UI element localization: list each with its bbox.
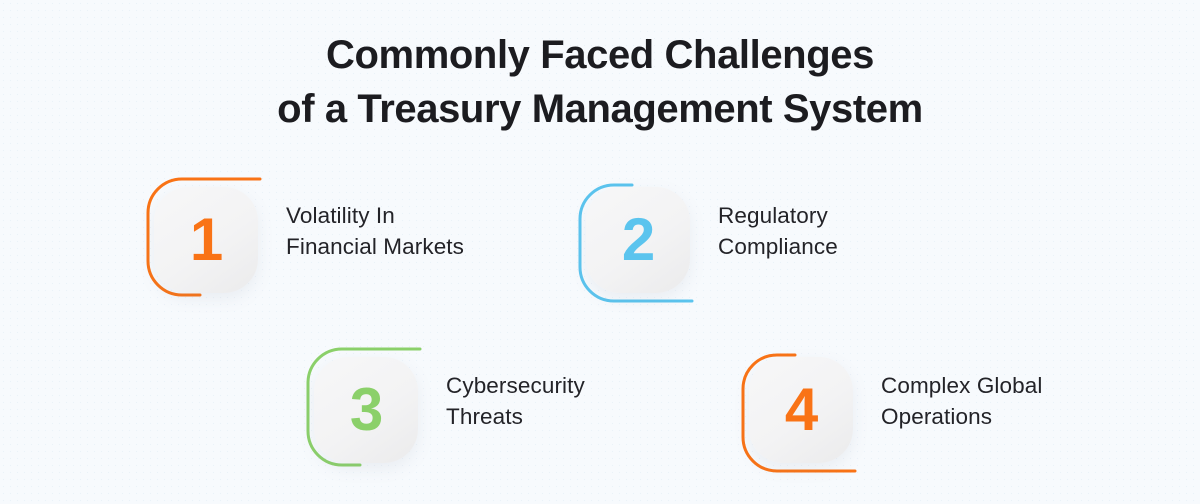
page-title: Commonly Faced Challenges of a Treasury … <box>0 28 1200 136</box>
infographic-page: Commonly Faced Challenges of a Treasury … <box>0 0 1200 504</box>
challenge-label-1-line-1: Volatility In <box>286 200 558 231</box>
challenge-card-3: 3 Cybersecurity Threats <box>300 340 720 480</box>
challenge-card-1: 1 Volatility In Financial Markets <box>140 170 560 310</box>
number-tile-1: 1 <box>154 187 258 293</box>
challenge-card-2: 2 Regulatory Compliance <box>572 170 992 310</box>
number-tile-3: 3 <box>314 357 418 463</box>
challenge-label-2: Regulatory Compliance <box>718 200 990 262</box>
number-tile-2: 2 <box>586 187 690 293</box>
challenge-number-2: 2 <box>622 210 654 270</box>
challenge-number-4: 4 <box>785 380 817 440</box>
challenge-label-4-line-2: Operations <box>881 401 1153 432</box>
challenge-label-3-line-1: Cybersecurity <box>446 370 718 401</box>
page-title-line-1: Commonly Faced Challenges <box>0 28 1200 82</box>
challenge-label-3-line-2: Threats <box>446 401 718 432</box>
challenge-label-1: Volatility In Financial Markets <box>286 200 558 262</box>
challenge-label-4: Complex Global Operations <box>881 370 1153 432</box>
challenge-label-4-line-1: Complex Global <box>881 370 1153 401</box>
challenge-card-4: 4 Complex Global Operations <box>735 340 1155 480</box>
page-title-line-2: of a Treasury Management System <box>0 82 1200 136</box>
number-tile-4: 4 <box>749 357 853 463</box>
challenge-label-1-line-2: Financial Markets <box>286 231 558 262</box>
challenge-number-3: 3 <box>350 380 382 440</box>
challenge-label-2-line-2: Compliance <box>718 231 990 262</box>
challenge-number-1: 1 <box>190 210 222 270</box>
challenge-label-2-line-1: Regulatory <box>718 200 990 231</box>
challenge-label-3: Cybersecurity Threats <box>446 370 718 432</box>
